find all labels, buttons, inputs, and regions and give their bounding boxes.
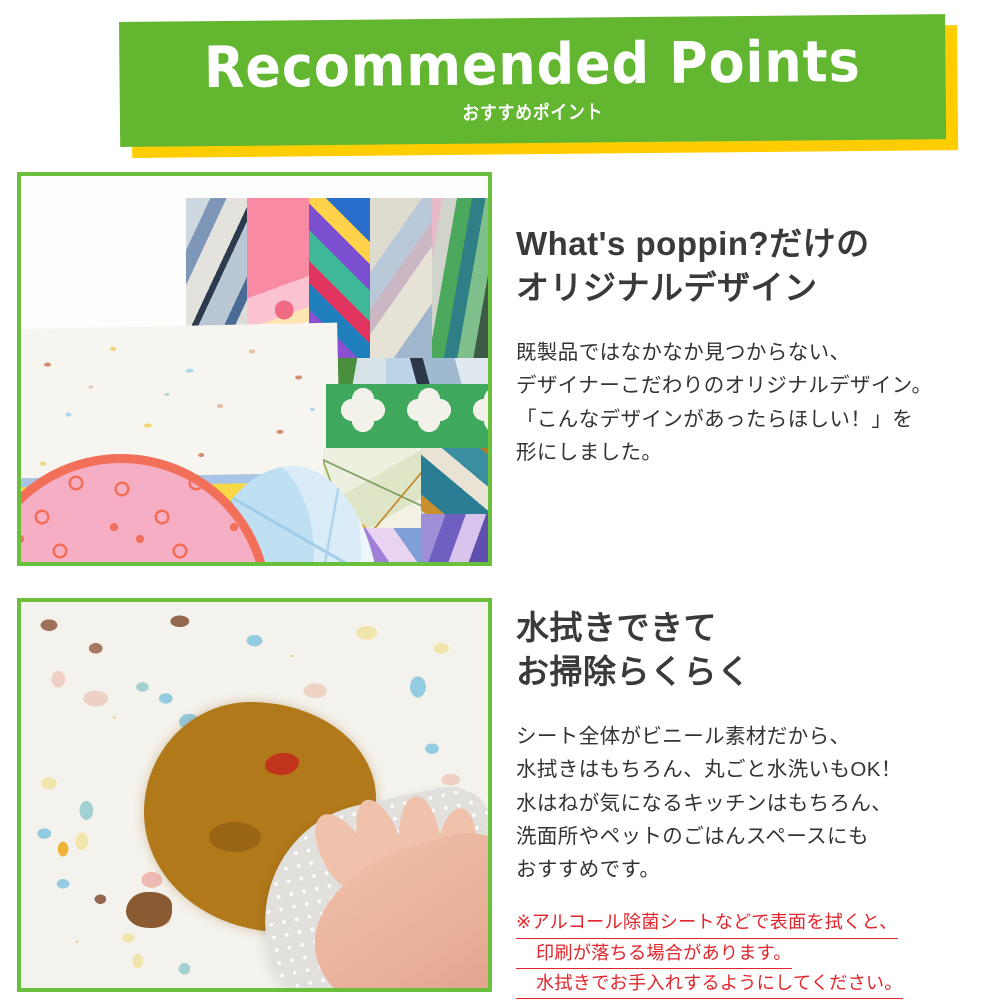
photo-wipeable [17,598,492,992]
section2-body-line-3: 水はねが気になるキッチンはもちろん、 [516,787,903,820]
section2-body-line-1: シート全体がビニール素材だから、 [516,720,903,753]
section2-heading-line-1: 水拭きできて [516,606,903,650]
section-body-line-1: 既製品ではなかなか見つからない、 [516,336,932,369]
sheet-graffiti-4 [370,198,431,358]
section-original-design: What's poppin?だけの オリジナルデザイン 既製品ではなかなか見つか… [0,172,1000,572]
section-body-line-4: 形にしました。 [516,436,932,469]
sheet-marble-violet [421,514,492,566]
section-heading-line-1: What's poppin?だけの [516,222,932,266]
sheet-graffiti-5 [432,198,492,358]
section2-body-line-4: 洗面所やペットのごはんスペースにも [516,820,903,853]
caution-note-line-2: 印刷が落ちる場合があります。 [516,939,792,969]
banner-main-layer: Recommended Points おすすめポイント [119,14,946,147]
section-body-line-3: 「こんなデザインがあったらほしい！」を [516,403,932,436]
caution-note-line-1: ※アルコール除菌シートなどで表面を拭くと、 [516,908,898,938]
header-banner: Recommended Points おすすめポイント [0,0,1000,172]
section2-heading-line-2: お掃除らくらく [516,650,903,694]
page-root: Recommended Points おすすめポイント [0,0,1000,1000]
liquid-spill-drip [126,892,172,928]
text-column-wipeable: 水拭きできて お掃除らくらく シート全体がビニール素材だから、 水拭きはもちろん… [516,606,903,999]
section-body-line-2: デザイナーこだわりのオリジナルデザイン。 [516,369,932,402]
section2-body-line-5: おすすめです。 [516,853,903,886]
section-heading-line-2: オリジナルデザイン [516,266,932,310]
page-title: Recommended Points [204,33,861,96]
section-wipeable: 水拭きできて お掃除らくらく シート全体がビニール素材だから、 水拭きはもちろん… [0,598,1000,998]
section2-body-line-2: 水拭きはもちろん、丸ごと水洗いもOK！ [516,753,903,786]
photo-original-design [17,172,492,566]
text-column-original-design: What's poppin?だけの オリジナルデザイン 既製品ではなかなか見つか… [516,222,932,469]
caution-note: ※アルコール除菌シートなどで表面を拭くと、 印刷が落ちる場合があります。 水拭き… [516,908,903,999]
caution-note-line-3: 水拭きでお手入れするようにしてください。 [516,969,903,999]
page-subtitle: おすすめポイント [462,103,603,123]
collage-illustration [21,176,488,562]
